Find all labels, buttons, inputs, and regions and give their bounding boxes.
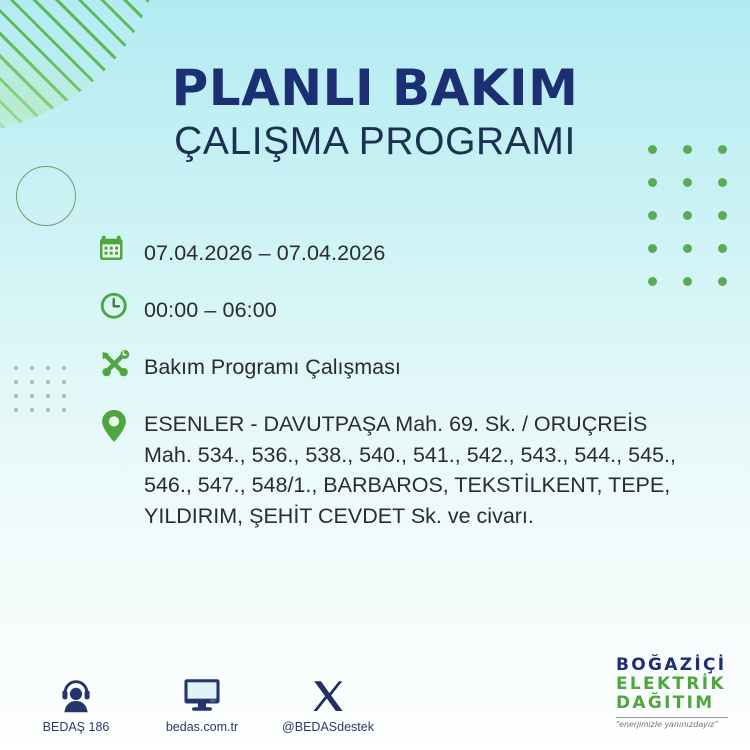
poster-footer: BEDAŞ 186 bedas.com.tr [0,640,750,750]
brand-line-1: BOĞAZİÇİ [616,657,728,674]
date-range-text: 07.04.2026 – 07.04.2026 [144,234,385,269]
decoration-dot [648,211,657,220]
company-logo: BOĞAZİÇİ ELEKTRİK DAĞITIM "enerjimizle y… [616,657,728,729]
decoration-dot [46,366,50,370]
monitor-icon [156,669,248,713]
contact-x-label: @BEDASdestek [282,720,374,734]
clock-icon [100,291,144,332]
decoration-dot [30,380,34,384]
maintenance-announcement-poster: PLANLI BAKIM ÇALIŞMA PROGRAMI [0,0,750,750]
decoration-dot [683,211,692,220]
info-row-time: 00:00 – 06:00 [100,291,710,332]
address-text: ESENLER - DAVUTPAŞA Mah. 69. Sk. / ORUÇR… [144,405,699,531]
brand-line-2: ELEKTRİK [616,676,728,693]
contact-list: BEDAŞ 186 bedas.com.tr [30,669,374,734]
contact-website-label: bedas.com.tr [156,720,248,734]
brand-line-3: DAĞITIM [616,695,728,712]
decoration-dot [718,211,727,220]
circle-outline-decoration [16,166,76,226]
decoration-dot [62,380,66,384]
decoration-dot [718,178,727,187]
brand-tagline: "enerjimizle yanınızdayız" [616,720,728,729]
time-range-text: 00:00 – 06:00 [144,291,277,326]
decoration-dot [62,394,66,398]
decoration-dot [648,178,657,187]
decoration-dot [14,408,18,412]
wrench-screwdriver-icon [100,348,144,389]
decoration-dot [14,366,18,370]
work-type-text: Bakım Programı Çalışması [144,348,401,383]
decoration-dot [718,277,727,286]
brand-divider [616,717,728,718]
page-title: PLANLI BAKIM [0,62,750,114]
calendar-icon [100,234,144,275]
decoration-dot [14,394,18,398]
decoration-dot [62,408,66,412]
decoration-dot [46,394,50,398]
page-subtitle: ÇALIŞMA PROGRAMI [0,120,750,165]
decoration-dot [46,380,50,384]
headset-support-icon [30,669,122,713]
decoration-dot [46,408,50,412]
info-row-date: 07.04.2026 – 07.04.2026 [100,234,710,275]
location-pin-icon [100,405,144,449]
info-row-work-type: Bakım Programı Çalışması [100,348,710,389]
decoration-dot [30,408,34,412]
dot-grid-left-decoration [14,366,72,416]
decoration-dot [718,244,727,253]
decoration-dot [30,394,34,398]
poster-header: PLANLI BAKIM ÇALIŞMA PROGRAMI [0,62,750,165]
info-row-address: ESENLER - DAVUTPAŞA Mah. 69. Sk. / ORUÇR… [100,405,710,531]
decoration-dot [62,366,66,370]
decoration-dot [14,380,18,384]
contact-phone[interactable]: BEDAŞ 186 [30,669,122,734]
contact-phone-label: BEDAŞ 186 [30,720,122,734]
contact-x-social[interactable]: @BEDASdestek [282,669,374,734]
decoration-dot [683,178,692,187]
contact-website[interactable]: bedas.com.tr [156,669,248,734]
x-twitter-icon [282,669,374,713]
decoration-dot [30,366,34,370]
info-list: 07.04.2026 – 07.04.2026 00:00 – 06:00 [100,234,710,531]
